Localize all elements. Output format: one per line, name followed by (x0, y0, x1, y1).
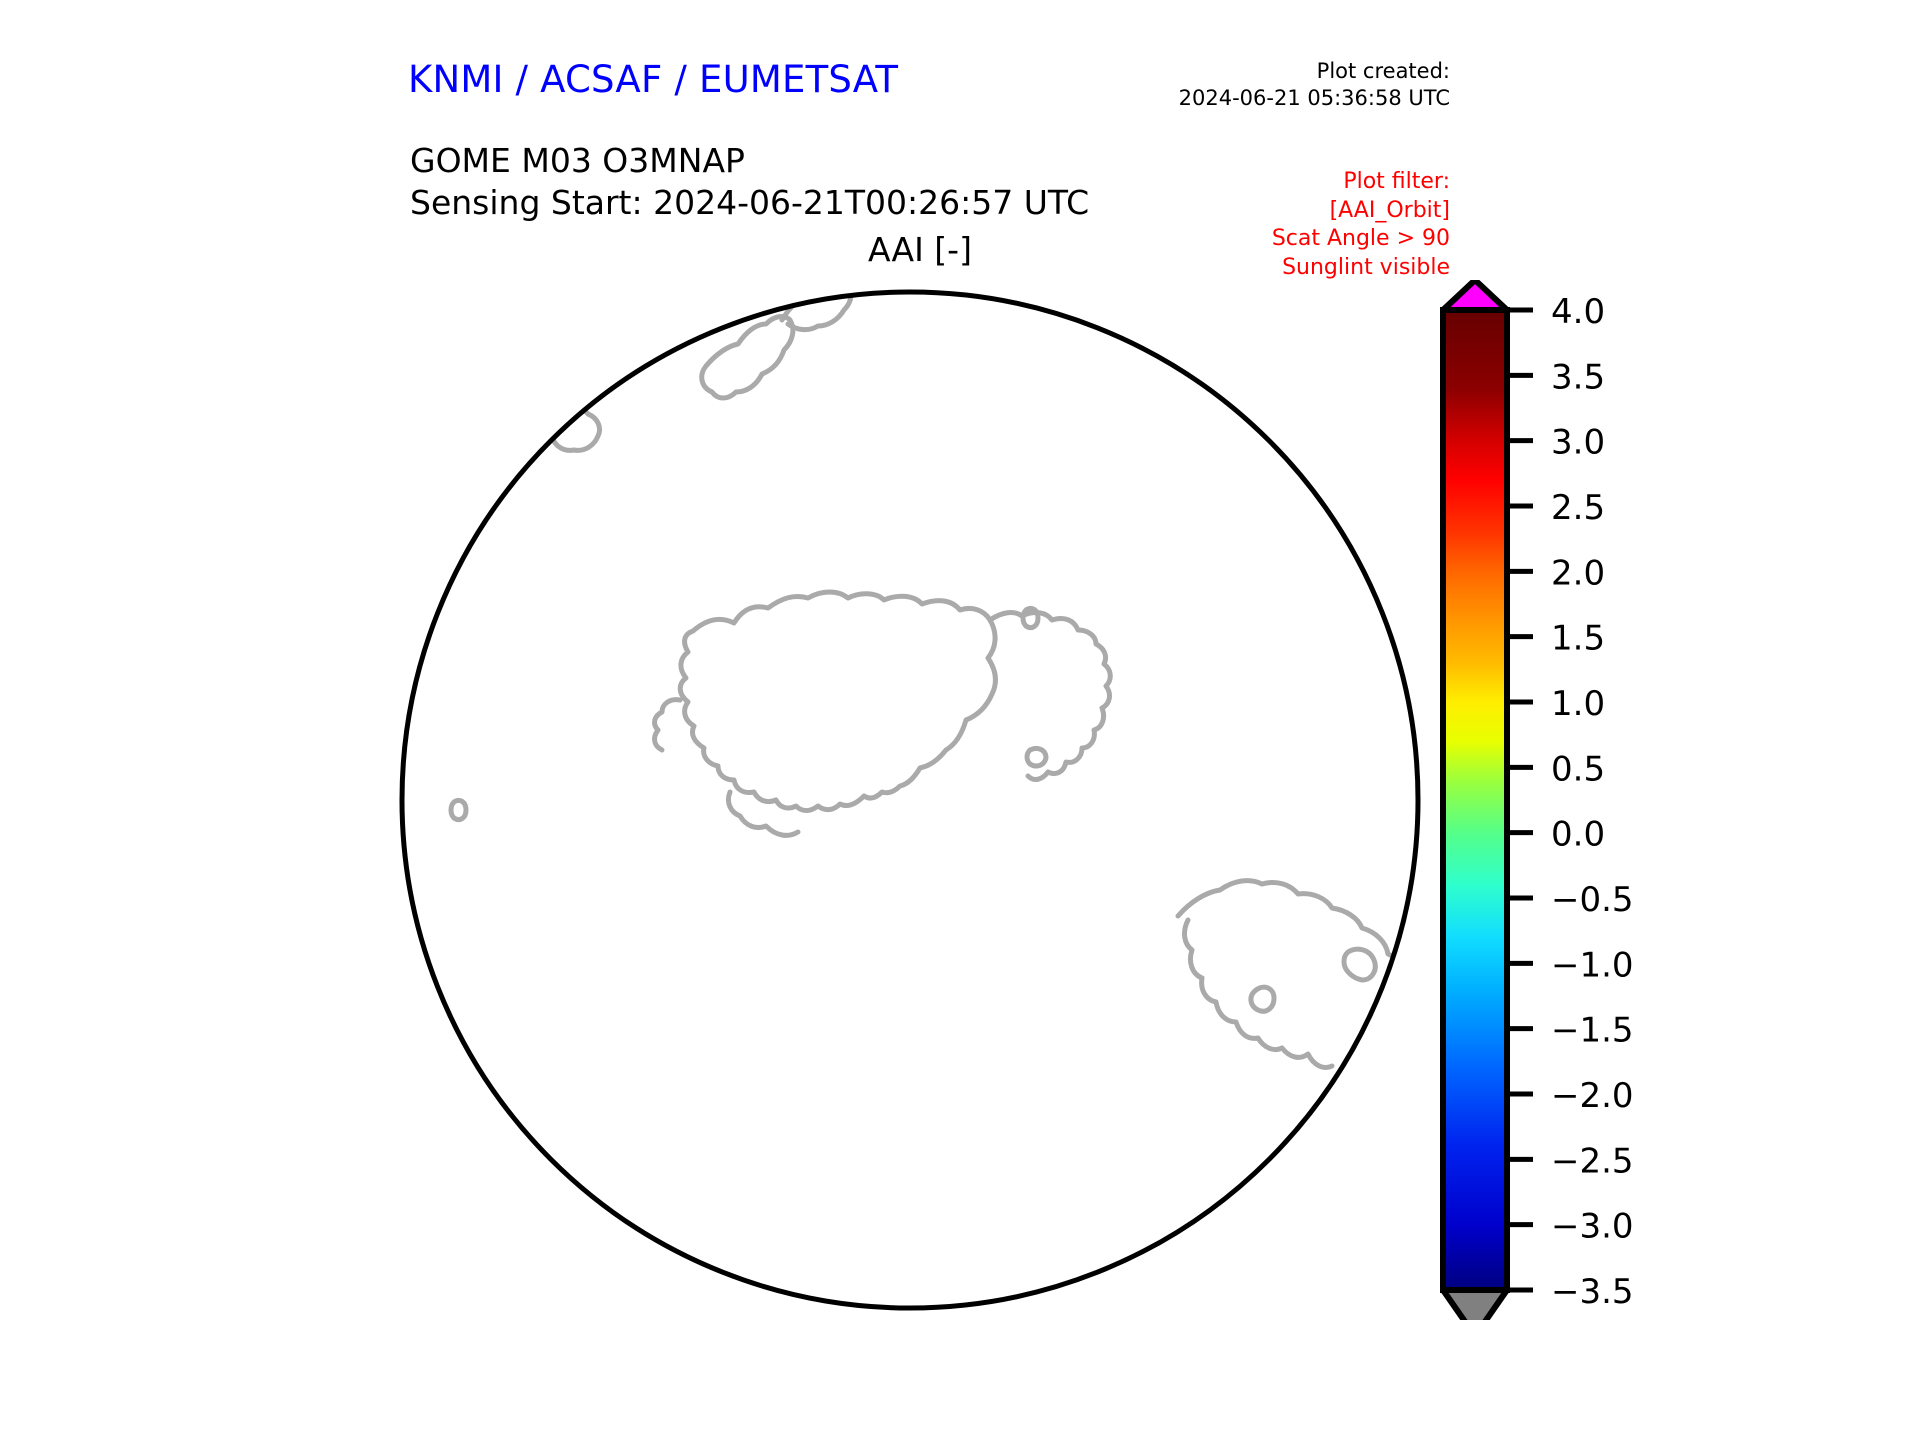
colorbar-ticks: 4.03.53.02.52.01.51.00.50.0−0.5−1.0−1.5−… (1507, 292, 1634, 1312)
plot-created-label: Plot created: (1150, 58, 1450, 85)
colorbar-tick-label: 3.0 (1551, 423, 1605, 463)
product-title-block: GOME M03 O3MNAP Sensing Start: 2024-06-2… (410, 140, 1089, 224)
colorbar-tick-label: −3.0 (1551, 1207, 1634, 1247)
plot-filter-name: [AAI_Orbit] (1150, 197, 1450, 226)
colorbar-tick-label: −1.5 (1551, 1011, 1634, 1051)
plot-created-timestamp: 2024-06-21 05:36:58 UTC (1150, 85, 1450, 112)
plot-filter-note: Sunglint visible (1150, 254, 1450, 283)
plot-filter-label: Plot filter: (1150, 168, 1450, 197)
plot-filter-condition: Scat Angle > 90 (1150, 225, 1450, 254)
organisation-title: KNMI / ACSAF / EUMETSAT (408, 58, 898, 101)
colorbar-tick-label: −1.0 (1551, 945, 1634, 985)
plot-filter-block: Plot filter: [AAI_Orbit] Scat Angle > 90… (1150, 168, 1450, 282)
figure-root: KNMI / ACSAF / EUMETSAT Plot created: 20… (0, 0, 1920, 1440)
colorbar-tick-label: 3.5 (1551, 357, 1605, 397)
colorbar-tick-label: −2.0 (1551, 1076, 1634, 1116)
colorbar-tick-label: 2.0 (1551, 553, 1605, 593)
colorbar-tick-label: −3.5 (1551, 1272, 1634, 1312)
colorbar-tick-label: 1.0 (1551, 684, 1605, 724)
colorbar[interactable]: 4.03.53.02.52.01.51.00.50.0−0.5−1.0−1.5−… (1425, 280, 1865, 1320)
colorbar-tick-label: 1.5 (1551, 619, 1605, 659)
colorbar-under-arrow (1443, 1290, 1507, 1320)
australia-south-coast (478, 380, 554, 399)
colorbar-tick-label: −2.5 (1551, 1141, 1634, 1181)
colorbar-canvas: 4.03.53.02.52.01.51.00.50.0−0.5−1.0−1.5−… (1425, 280, 1865, 1320)
colorbar-gradient-bar (1443, 310, 1507, 1290)
colorbar-tick-label: −0.5 (1551, 880, 1634, 920)
colorbar-tick-label: 0.0 (1551, 815, 1605, 855)
variable-title: AAI [-] (50, 230, 1790, 269)
colorbar-tick-label: 2.5 (1551, 488, 1605, 528)
colorbar-over-arrow (1443, 280, 1507, 310)
colorbar-tick-label: 0.5 (1551, 749, 1605, 789)
colorbar-tick-label: 4.0 (1551, 292, 1605, 332)
plot-created-block: Plot created: 2024-06-21 05:36:58 UTC (1150, 58, 1450, 112)
polar-map[interactable] (390, 280, 1430, 1320)
product-name: GOME M03 O3MNAP (410, 140, 1089, 182)
map-canvas (390, 280, 1430, 1320)
sensing-start: Sensing Start: 2024-06-21T00:26:57 UTC (410, 182, 1089, 224)
